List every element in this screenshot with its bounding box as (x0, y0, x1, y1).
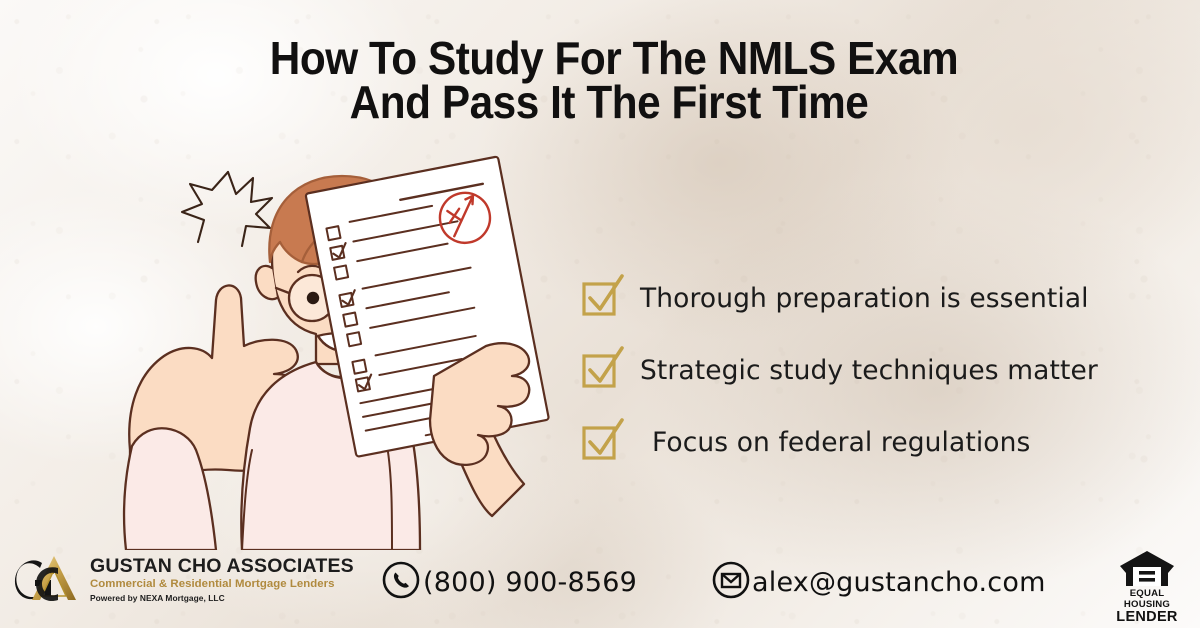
logo-text-block: GUSTAN CHO ASSOCIATES Commercial & Resid… (90, 557, 354, 604)
company-name: GUSTAN CHO ASSOCIATES (90, 557, 354, 577)
house-equal-icon (1110, 550, 1184, 588)
list-item: Thorough preparation is essential (580, 262, 1100, 334)
list-item-label: Thorough preparation is essential (640, 283, 1089, 314)
phone-icon (381, 560, 421, 605)
checkbox-check-icon (580, 278, 622, 318)
student-illustration (120, 150, 590, 550)
company-tagline: Commercial & Residential Mortgage Lender… (90, 576, 354, 593)
footer-bar: GUSTAN CHO ASSOCIATES Commercial & Resid… (0, 544, 1200, 628)
envelope-icon (711, 560, 751, 605)
benefits-list: Thorough preparation is essential Strate… (580, 262, 1100, 478)
email-contact[interactable]: alex@gustancho.com (711, 560, 1046, 605)
equal-housing-lender-logo: EQUAL HOUSING LENDER (1110, 550, 1184, 626)
equal-housing-line1: EQUAL HOUSING (1110, 589, 1184, 610)
list-item-label: Focus on federal regulations (652, 427, 1030, 458)
company-logo[interactable]: GUSTAN CHO ASSOCIATES Commercial & Resid… (14, 552, 354, 608)
title-line-1: How To Study For The NMLS Exam (75, 36, 1153, 80)
powered-by-label: Powered by NEXA Mortgage, LLC (90, 593, 354, 604)
checkbox-check-icon (580, 422, 622, 462)
email-address: alex@gustancho.com (752, 567, 1046, 598)
equal-housing-line2: LENDER (1110, 610, 1184, 626)
list-item: Focus on federal regulations (580, 406, 1100, 478)
poster-canvas: How To Study For The NMLS Exam And Pass … (0, 0, 1200, 628)
list-item-label: Strategic study techniques matter (640, 355, 1098, 386)
phone-number: (800) 900-8569 (423, 567, 637, 598)
list-item: Strategic study techniques matter (580, 334, 1100, 406)
checkbox-check-icon (580, 350, 622, 390)
phone-contact[interactable]: (800) 900-8569 (381, 560, 637, 605)
gca-monogram-icon (14, 552, 86, 608)
page-title: How To Study For The NMLS Exam And Pass … (0, 36, 1200, 124)
title-line-2: And Pass It The First Time (65, 80, 1152, 124)
